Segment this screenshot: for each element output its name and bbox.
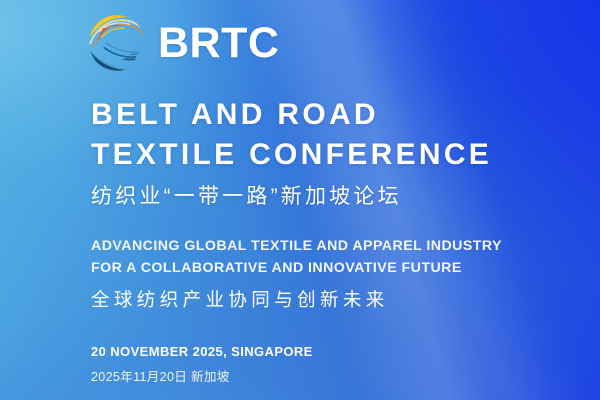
event-date-location-english: 20 NOVEMBER 2025, SINGAPORE: [91, 343, 600, 361]
english-tagline: ADVANCING GLOBAL TEXTILE AND APPAREL IND…: [91, 236, 600, 279]
brand-wordmark: BRTC: [158, 22, 279, 65]
page-title-line-2: TEXTILE CONFERENCE: [91, 135, 600, 175]
page-title-line-1: BELT AND ROAD: [91, 95, 600, 135]
event-details: 20 NOVEMBER 2025, SINGAPORE 2025年11月20日 …: [91, 343, 600, 387]
brtc-globe-swirl-logo-icon: [88, 14, 146, 72]
english-tagline-line-2: FOR A COLLABORATIVE AND INNOVATIVE FUTUR…: [91, 258, 600, 280]
poster-content: BRTC BELT AND ROAD TEXTILE CONFERENCE 纺织…: [0, 0, 600, 400]
chinese-headline: 纺织业“一带一路”新加坡论坛: [91, 183, 600, 210]
page-title: BELT AND ROAD TEXTILE CONFERENCE: [91, 95, 600, 174]
chinese-tagline: 全球纺织产业协同与创新未来: [91, 288, 600, 312]
english-tagline-line-1: ADVANCING GLOBAL TEXTILE AND APPAREL IND…: [91, 236, 600, 258]
event-date-location-chinese: 2025年11月20日 新加坡: [91, 369, 600, 386]
conference-poster: BRTC BELT AND ROAD TEXTILE CONFERENCE 纺织…: [0, 0, 600, 400]
brand-lockup: BRTC: [88, 12, 600, 74]
